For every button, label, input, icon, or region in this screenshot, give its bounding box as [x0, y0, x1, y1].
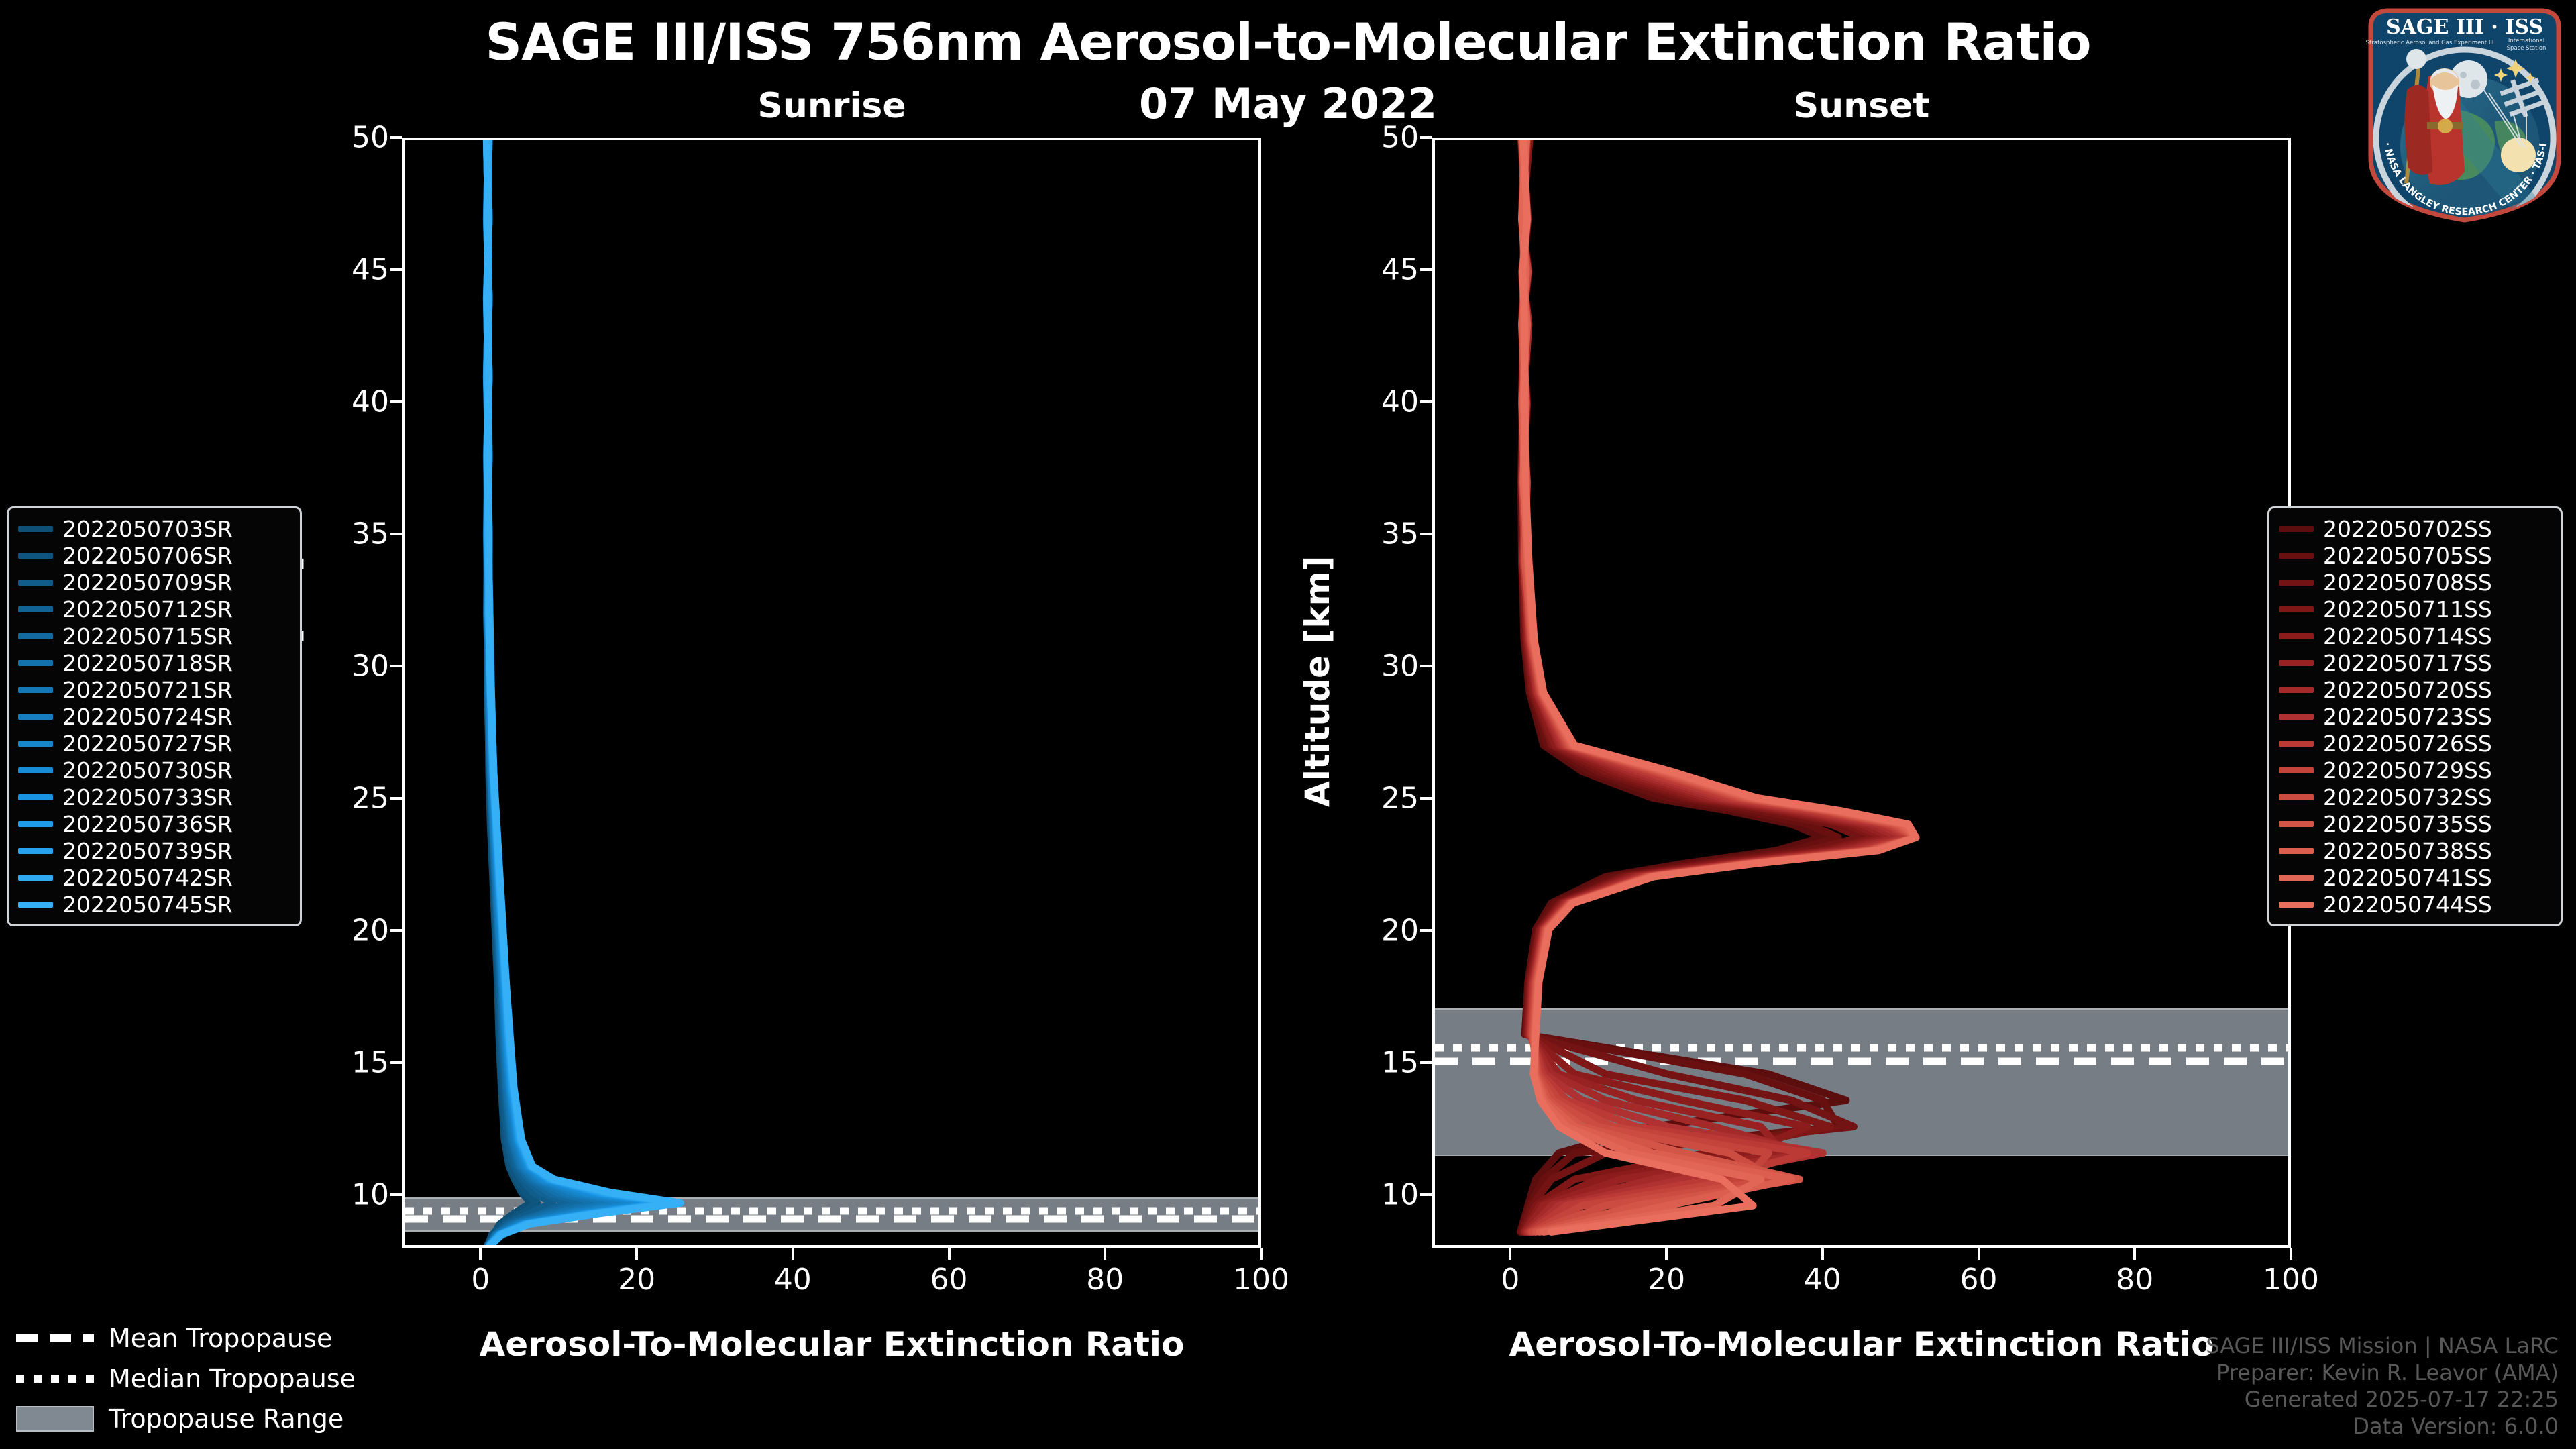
profile-line	[486, 140, 680, 1245]
panel-title-sunrise: Sunrise	[402, 86, 1261, 126]
sunset-legend-item[interactable]: 2022050732SS	[2279, 784, 2551, 810]
x-tick-mark	[948, 1248, 951, 1260]
y-tick-mark	[1420, 797, 1432, 800]
sunset-legend-item[interactable]: 2022050729SS	[2279, 757, 2551, 784]
page-title: SAGE III/ISS 756nm Aerosol-to-Molecular …	[0, 12, 2576, 72]
legend-item-label: 2022050744SS	[2323, 892, 2492, 918]
legend-item-label: 2022050729SS	[2323, 757, 2492, 784]
y-tick-mark	[390, 797, 402, 800]
y-tick-mark	[1420, 1193, 1432, 1196]
legend-item-label: 2022050723SS	[2323, 704, 2492, 730]
y-tick-label: 25	[1354, 782, 1419, 816]
sunset-x-axis-label: Aerosol-To-Molecular Extinction Ratio	[1432, 1325, 2291, 1364]
legend-item-label: 2022050727SR	[62, 731, 233, 757]
x-tick-mark	[792, 1248, 794, 1260]
legend-item-label: 2022050733SR	[62, 784, 233, 810]
legend-color-swatch	[2279, 794, 2314, 800]
legend-color-swatch	[18, 875, 53, 881]
legend-item-label: 2022050712SR	[62, 596, 233, 623]
logo-title: SAGE III · ISS	[2386, 15, 2543, 39]
legend-color-swatch	[18, 526, 53, 532]
sunrise-legend-item[interactable]: 2022050736SR	[18, 810, 290, 837]
y-tick-label: 40	[1354, 385, 1419, 419]
x-tick-label: 60	[930, 1263, 968, 1297]
x-tick-label: 100	[1233, 1263, 1289, 1297]
legend-item-label: 2022050724SR	[62, 704, 233, 730]
tropopause-legend-label: Tropopause Range	[109, 1404, 343, 1434]
sunset-legend-item[interactable]: 2022050711SS	[2279, 596, 2551, 623]
y-tick-label: 45	[1354, 253, 1419, 287]
legend-item-label: 2022050708SS	[2323, 570, 2492, 596]
sunset-legend-item[interactable]: 2022050744SS	[2279, 891, 2551, 918]
y-tick-mark	[390, 1061, 402, 1064]
legend-color-swatch	[2279, 902, 2314, 908]
legend-item-label: 2022050735SS	[2323, 811, 2492, 837]
logo-subtitle-right-1: International	[2508, 38, 2544, 44]
sunset-legend[interactable]: 2022050702SS2022050705SS2022050708SS2022…	[2267, 506, 2563, 926]
tropopause-legend-item: Median Tropopause	[16, 1358, 356, 1399]
legend-item-label: 2022050703SR	[62, 516, 233, 542]
y-tick-mark	[390, 136, 402, 139]
legend-color-swatch	[2279, 606, 2314, 612]
sunset-legend-item[interactable]: 2022050705SS	[2279, 542, 2551, 569]
sunrise-legend-item[interactable]: 2022050733SR	[18, 784, 290, 810]
legend-color-swatch	[2279, 848, 2314, 854]
footer-line-mission: SAGE III/ISS Mission | NASA LaRC	[2206, 1332, 2559, 1359]
legend-item-label: 2022050745SR	[62, 892, 233, 918]
sunset-legend-item[interactable]: 2022050726SS	[2279, 730, 2551, 757]
legend-color-swatch	[18, 902, 53, 908]
y-tick-mark	[1420, 268, 1432, 271]
legend-color-swatch	[2279, 526, 2314, 532]
legend-color-swatch	[2279, 660, 2314, 666]
y-tick-label: 40	[325, 385, 389, 419]
x-tick-label: 80	[2116, 1263, 2153, 1297]
y-tick-label: 45	[325, 253, 389, 287]
legend-item-label: 2022050714SS	[2323, 623, 2492, 649]
legend-color-swatch	[18, 606, 53, 612]
y-tick-label: 15	[325, 1046, 389, 1080]
x-tick-label: 40	[774, 1263, 812, 1297]
y-tick-label: 10	[1354, 1178, 1419, 1212]
legend-item-label: 2022050736SR	[62, 811, 233, 837]
sunset-legend-item[interactable]: 2022050738SS	[2279, 837, 2551, 864]
y-tick-label: 30	[1354, 649, 1419, 684]
legend-item-label: 2022050709SR	[62, 570, 233, 596]
legend-color-swatch	[2279, 687, 2314, 693]
y-tick-mark	[390, 268, 402, 271]
y-tick-mark	[1420, 665, 1432, 667]
y-tick-mark	[1420, 400, 1432, 403]
sunrise-plot	[402, 138, 1261, 1248]
sunset-legend-item[interactable]: 2022050708SS	[2279, 569, 2551, 596]
legend-color-swatch	[2279, 580, 2314, 586]
sunrise-legend-item[interactable]: 2022050730SR	[18, 757, 290, 784]
legend-item-label: 2022050732SS	[2323, 784, 2492, 810]
tropopause-legend-label: Median Tropopause	[109, 1364, 356, 1393]
legend-color-swatch	[18, 741, 53, 747]
x-tick-label: 60	[1960, 1263, 1998, 1297]
y-tick-mark	[390, 533, 402, 535]
tropopause-legend-label: Mean Tropopause	[109, 1324, 332, 1353]
sunset-legend-item[interactable]: 2022050702SS	[2279, 515, 2551, 542]
tropopause-legend-item: Tropopause Range	[16, 1399, 356, 1439]
sunset-legend-item[interactable]: 2022050723SS	[2279, 703, 2551, 730]
legend-color-swatch	[2279, 875, 2314, 881]
legend-color-swatch	[18, 687, 53, 693]
legend-item-label: 2022050742SR	[62, 865, 233, 891]
tropopause-legend: Mean TropopauseMedian TropopauseTropopau…	[16, 1318, 356, 1439]
sunset-legend-item[interactable]: 2022050741SS	[2279, 864, 2551, 891]
sunrise-legend-item[interactable]: 2022050715SR	[18, 623, 290, 649]
sunrise-legend-item[interactable]: 2022050703SR	[18, 515, 290, 542]
tropopause-legend-mark	[16, 1328, 94, 1348]
legend-item-label: 2022050738SS	[2323, 838, 2492, 864]
y-tick-label: 50	[1354, 121, 1419, 155]
sunset-y-axis-label: Altitude [km]	[1298, 555, 1337, 807]
footer-line-preparer: Preparer: Kevin R. Leavor (AMA)	[2206, 1359, 2559, 1386]
sunset-legend-item[interactable]: 2022050720SS	[2279, 676, 2551, 703]
y-tick-mark	[1420, 533, 1432, 535]
legend-item-label: 2022050705SS	[2323, 543, 2492, 569]
legend-color-swatch	[2279, 741, 2314, 747]
x-tick-mark	[2133, 1248, 2136, 1260]
legend-item-label: 2022050717SS	[2323, 650, 2492, 676]
sunrise-legend-item[interactable]: 2022050721SR	[18, 676, 290, 703]
y-tick-mark	[1420, 136, 1432, 139]
y-tick-label: 35	[1354, 517, 1419, 551]
x-tick-label: 100	[2263, 1263, 2319, 1297]
legend-color-swatch	[18, 633, 53, 639]
tropopause-dashed-sample	[16, 1334, 94, 1342]
y-tick-label: 10	[325, 1178, 389, 1212]
sunrise-legend-item[interactable]: 2022050742SR	[18, 864, 290, 891]
tropopause-legend-mark	[16, 1368, 94, 1389]
sunrise-legend-item[interactable]: 2022050724SR	[18, 703, 290, 730]
logo-subtitle-left: Stratospheric Aerosol and Gas Experiment…	[2366, 40, 2494, 46]
y-tick-label: 25	[325, 782, 389, 816]
legend-color-swatch	[2279, 714, 2314, 720]
x-tick-label: 20	[618, 1263, 655, 1297]
y-tick-label: 35	[325, 517, 389, 551]
legend-item-label: 2022050726SS	[2323, 731, 2492, 757]
profile-curves	[1435, 140, 2288, 1245]
legend-color-swatch	[18, 580, 53, 586]
x-tick-label: 0	[1501, 1263, 1519, 1297]
legend-item-label: 2022050711SS	[2323, 596, 2492, 623]
tropopause-legend-item: Mean Tropopause	[16, 1318, 356, 1358]
sunset-legend-item[interactable]: 2022050735SS	[2279, 810, 2551, 837]
y-tick-mark	[1420, 1061, 1432, 1064]
panel-title-sunset: Sunset	[1432, 86, 2291, 126]
x-tick-mark	[1509, 1248, 1511, 1260]
legend-item-label: 2022050718SR	[62, 650, 233, 676]
x-tick-mark	[1821, 1248, 1824, 1260]
legend-color-swatch	[18, 714, 53, 720]
sunset-legend-item[interactable]: 2022050714SS	[2279, 623, 2551, 649]
sunrise-legend[interactable]: 2022050703SR2022050706SR2022050709SR2022…	[7, 506, 302, 926]
y-tick-mark	[390, 929, 402, 932]
x-tick-label: 40	[1804, 1263, 1841, 1297]
x-tick-label: 0	[471, 1263, 490, 1297]
sunrise-legend-item[interactable]: 2022050727SR	[18, 730, 290, 757]
profile-curves	[405, 140, 1258, 1245]
legend-color-swatch	[2279, 821, 2314, 827]
sunrise-legend-item[interactable]: 2022050712SR	[18, 596, 290, 623]
legend-color-swatch	[18, 848, 53, 854]
legend-color-swatch	[18, 821, 53, 827]
x-tick-mark	[479, 1248, 482, 1260]
sunrise-legend-item[interactable]: 2022050706SR	[18, 542, 290, 569]
y-tick-label: 15	[1354, 1046, 1419, 1080]
tropopause-legend-mark	[16, 1409, 94, 1429]
profile-line	[486, 140, 599, 1245]
y-tick-mark	[390, 665, 402, 667]
x-tick-mark	[1104, 1248, 1106, 1260]
y-tick-label: 20	[325, 914, 389, 948]
profile-line	[486, 140, 552, 1245]
legend-item-label: 2022050730SR	[62, 757, 233, 784]
legend-color-swatch	[18, 767, 53, 773]
sunrise-legend-item[interactable]: 2022050745SR	[18, 891, 290, 918]
footer-line-version: Data Version: 6.0.0	[2206, 1413, 2559, 1440]
sunrise-legend-item[interactable]: 2022050718SR	[18, 649, 290, 676]
sunrise-legend-item[interactable]: 2022050709SR	[18, 569, 290, 596]
y-tick-mark	[390, 400, 402, 403]
y-tick-label: 50	[325, 121, 389, 155]
y-tick-mark	[390, 1193, 402, 1196]
legend-item-label: 2022050702SS	[2323, 516, 2492, 542]
legend-color-swatch	[2279, 553, 2314, 559]
sunrise-x-axis-label: Aerosol-To-Molecular Extinction Ratio	[402, 1325, 1261, 1364]
legend-item-label: 2022050706SR	[62, 543, 233, 569]
x-tick-mark	[635, 1248, 638, 1260]
sage-iii-iss-logo: SAGE III · ISS Stratospheric Aerosol and…	[2357, 4, 2572, 225]
footer-attribution: SAGE III/ISS Mission | NASA LaRC Prepare…	[2206, 1332, 2559, 1440]
x-tick-mark	[2290, 1248, 2292, 1260]
legend-color-swatch	[18, 553, 53, 559]
y-tick-label: 30	[325, 649, 389, 684]
legend-item-label: 2022050739SR	[62, 838, 233, 864]
legend-color-swatch	[18, 794, 53, 800]
x-tick-mark	[1665, 1248, 1668, 1260]
legend-item-label: 2022050721SR	[62, 677, 233, 703]
x-tick-label: 80	[1086, 1263, 1124, 1297]
legend-item-label: 2022050715SR	[62, 623, 233, 649]
sunset-legend-item[interactable]: 2022050717SS	[2279, 649, 2551, 676]
tropopause-band-sample	[16, 1406, 94, 1432]
x-tick-label: 20	[1648, 1263, 1685, 1297]
sunrise-legend-item[interactable]: 2022050739SR	[18, 837, 290, 864]
tropopause-dotted-sample	[16, 1375, 94, 1383]
y-tick-mark	[1420, 929, 1432, 932]
legend-color-swatch	[2279, 633, 2314, 639]
logo-subtitle-right-2: Space Station	[2507, 45, 2546, 52]
legend-item-label: 2022050741SS	[2323, 865, 2492, 891]
x-tick-mark	[1260, 1248, 1263, 1260]
legend-color-swatch	[2279, 767, 2314, 773]
sunset-plot	[1432, 138, 2291, 1248]
x-tick-mark	[1978, 1248, 1980, 1260]
legend-item-label: 2022050720SS	[2323, 677, 2492, 703]
y-tick-label: 20	[1354, 914, 1419, 948]
footer-line-generated: Generated 2025-07-17 22:25	[2206, 1386, 2559, 1413]
legend-color-swatch	[18, 660, 53, 666]
